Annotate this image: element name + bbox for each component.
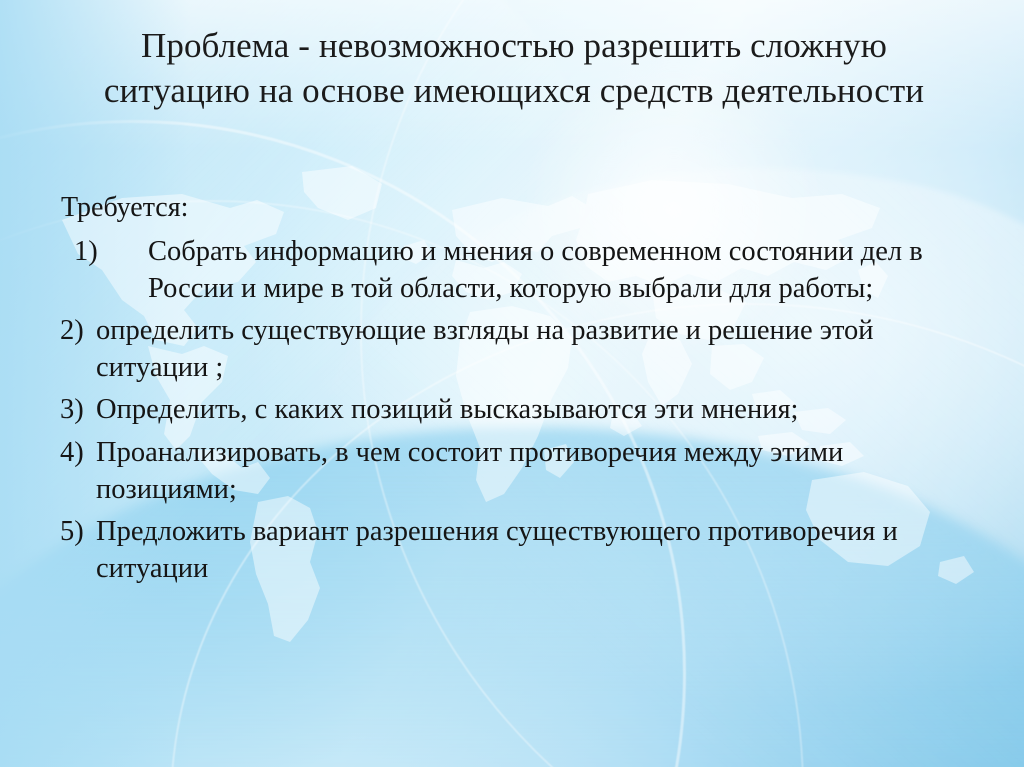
list-item-number: 5) (60, 513, 84, 550)
requirements-list: 1) Собрать информацию и мнения о совреме… (52, 233, 980, 586)
list-item-number: 3) (60, 391, 84, 428)
list-item-text: Предложить вариант разрешения существующ… (96, 516, 898, 584)
page-title: Проблема - невозможностью разрешить слож… (64, 24, 964, 114)
list-item: 2) определить существующие взгляды на ра… (52, 312, 980, 386)
list-item: 1) Собрать информацию и мнения о совреме… (52, 233, 980, 307)
list-item-text: Проанализировать, в чем состоит противор… (96, 437, 843, 505)
list-item: 3) Определить, с каких позиций высказыва… (52, 391, 980, 428)
list-item: 5) Предложить вариант разрешения существ… (52, 513, 980, 587)
list-item-number: 4) (60, 434, 84, 471)
slide-body: Требуется: 1) Собрать информацию и мнени… (52, 190, 980, 592)
list-item-number: 1) (74, 233, 98, 270)
lead-text: Требуется: (61, 190, 980, 225)
slide-canvas: Проблема - невозможностью разрешить слож… (0, 0, 1024, 767)
list-item-text: Определить, с каких позиций высказываютс… (96, 394, 798, 425)
list-item: 4) Проанализировать, в чем состоит проти… (52, 434, 980, 508)
list-item-text: определить существующие взгляды на разви… (96, 315, 874, 383)
list-item-text: Собрать информацию и мнения о современно… (148, 236, 923, 304)
list-item-number: 2) (60, 312, 84, 349)
